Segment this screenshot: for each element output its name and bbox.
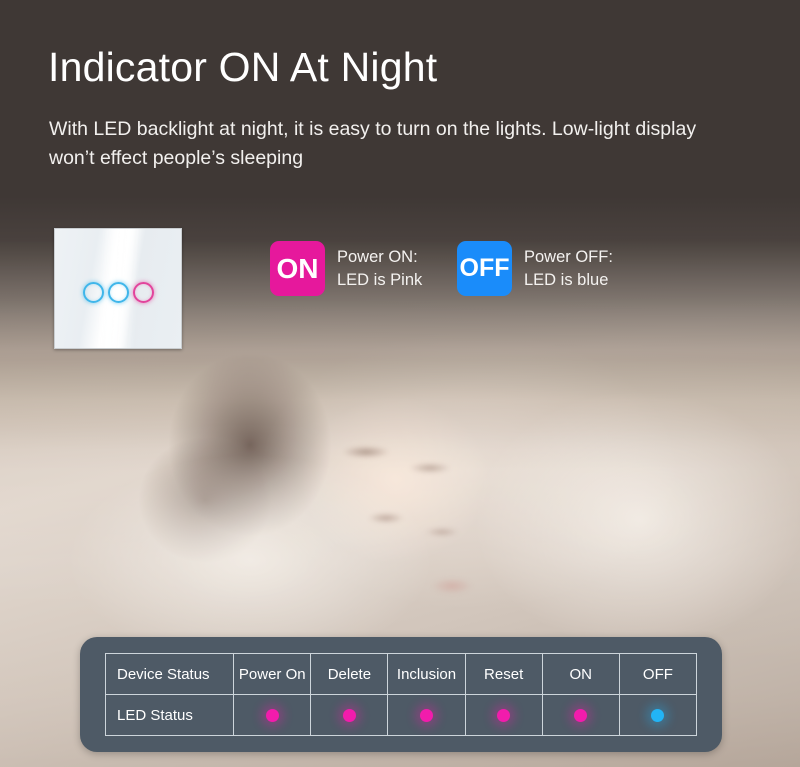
led-dot-on-icon: [574, 709, 587, 722]
table-cell-led-off: [619, 695, 696, 736]
page-title: Indicator ON At Night: [48, 44, 437, 91]
legend-power-off-line1: Power OFF:: [524, 246, 613, 268]
table-header-delete: Delete: [311, 654, 388, 695]
panel-led-middle-icon: [108, 282, 129, 303]
legend-power-off: OFF Power OFF: LED is blue: [457, 241, 613, 296]
table-header-off: OFF: [619, 654, 696, 695]
legend-power-off-text: Power OFF: LED is blue: [524, 246, 613, 291]
page-subtitle: With LED backlight at night, it is easy …: [49, 115, 709, 173]
led-dot-off-icon: [651, 709, 664, 722]
table-header-on: ON: [542, 654, 619, 695]
led-dot-delete-icon: [343, 709, 356, 722]
table-header-power-on: Power On: [234, 654, 311, 695]
led-dot-reset-icon: [497, 709, 510, 722]
led-dot-inclusion-icon: [420, 709, 433, 722]
legend-power-on-text: Power ON: LED is Pink: [337, 246, 422, 291]
table-cell-led-on: [542, 695, 619, 736]
table-header-row: Device Status Power On Delete Inclusion …: [106, 654, 697, 695]
table-header-inclusion: Inclusion: [388, 654, 465, 695]
table-header-reset: Reset: [465, 654, 542, 695]
table-cell-led-power-on: [234, 695, 311, 736]
panel-led-right-icon: [133, 282, 154, 303]
table-cell-led-status-label: LED Status: [106, 695, 234, 736]
badge-on: ON: [270, 241, 325, 296]
legend-power-on: ON Power ON: LED is Pink: [270, 241, 422, 296]
legend-power-off-line2: LED is blue: [524, 269, 613, 291]
promo-banner: Indicator ON At Night With LED backlight…: [0, 0, 800, 767]
table-cell-led-reset: [465, 695, 542, 736]
table-cell-led-inclusion: [388, 695, 465, 736]
badge-off: OFF: [457, 241, 512, 296]
table-cell-led-delete: [311, 695, 388, 736]
legend-power-on-line2: LED is Pink: [337, 269, 422, 291]
table-header-device-status: Device Status: [106, 654, 234, 695]
status-table-card: Device Status Power On Delete Inclusion …: [80, 637, 722, 752]
touch-switch-panel: [54, 228, 182, 349]
panel-led-row: [55, 282, 181, 303]
panel-led-left-icon: [83, 282, 104, 303]
table-row: LED Status: [106, 695, 697, 736]
legend-power-on-line1: Power ON:: [337, 246, 422, 268]
led-dot-power-on-icon: [266, 709, 279, 722]
led-status-table: Device Status Power On Delete Inclusion …: [105, 653, 697, 736]
